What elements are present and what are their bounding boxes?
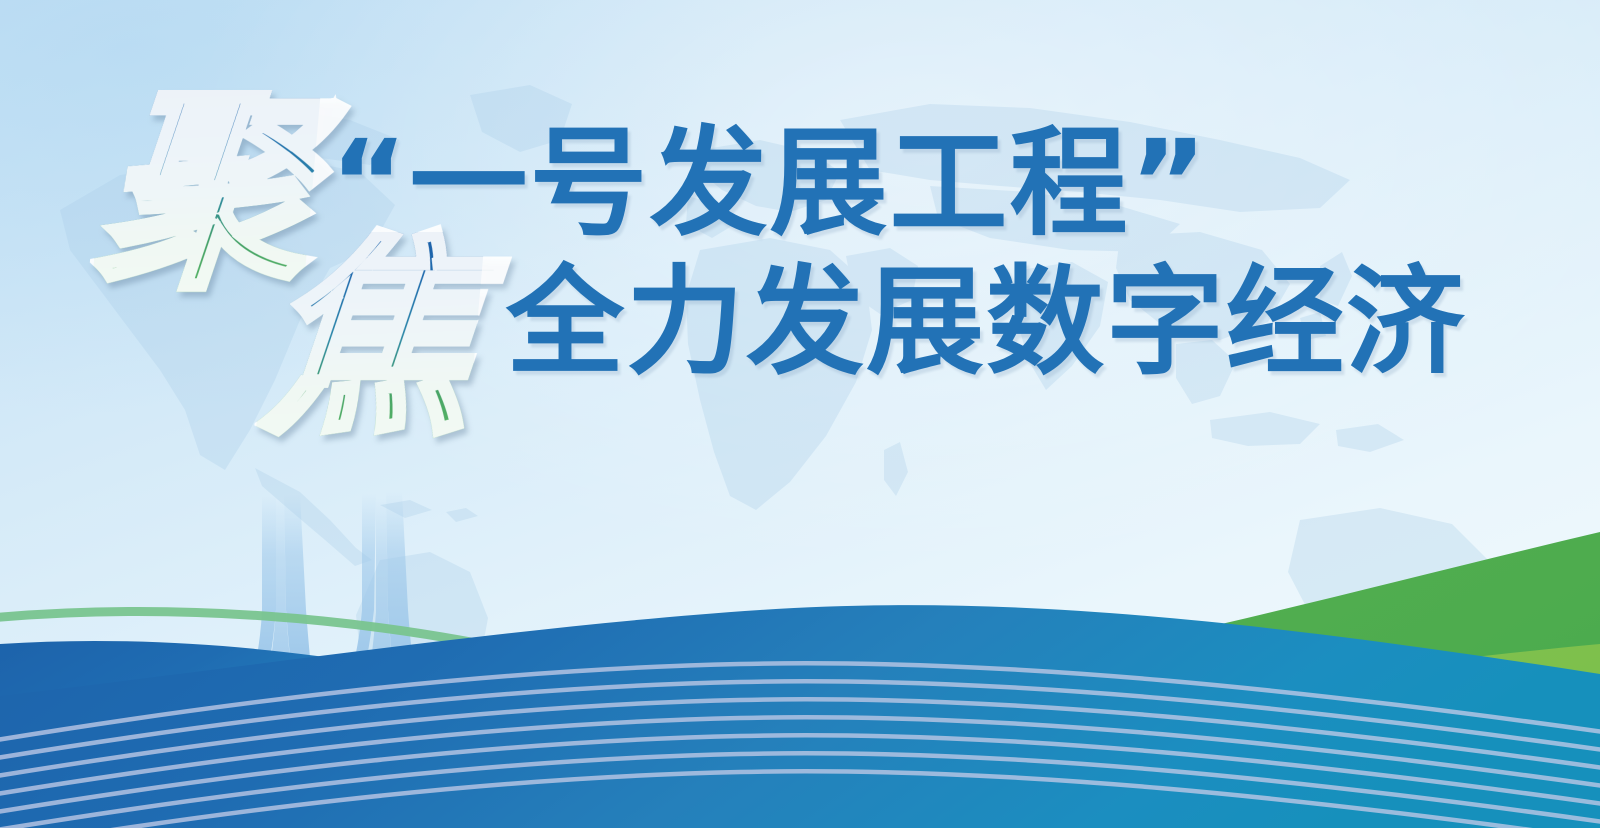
city-skyline — [0, 528, 1600, 828]
landscape-waves — [0, 498, 1600, 828]
twin-landmark-towers — [180, 470, 600, 720]
banner-root: 聚 焦 “一号发展工程” 全力发展数字经济 — [0, 0, 1600, 828]
headline-line-2: 全力发展数字经济 — [330, 259, 1510, 386]
headline-line-1: “一号发展工程” — [330, 120, 1510, 247]
headline-block: “一号发展工程” 全力发展数字经济 — [330, 120, 1510, 387]
